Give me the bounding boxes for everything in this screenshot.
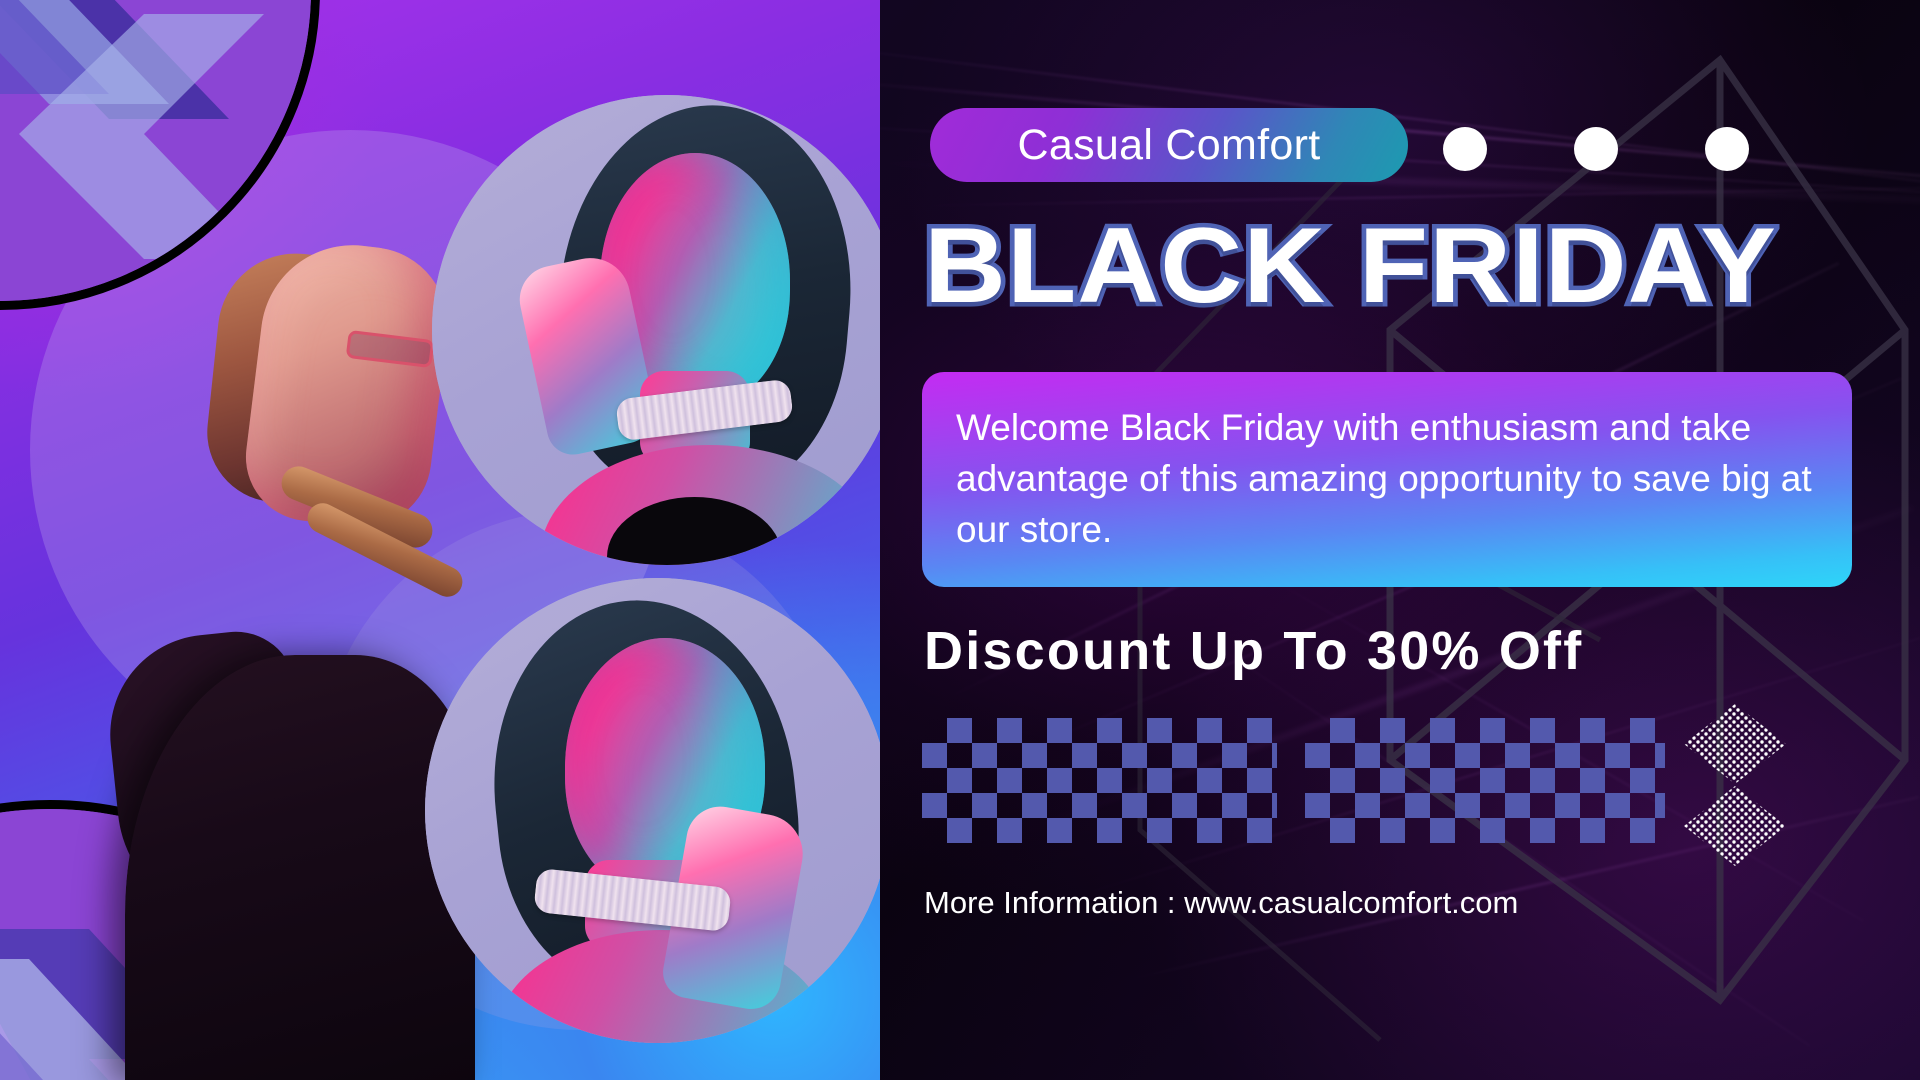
layered-chevron-arrows	[0, 0, 264, 259]
black-friday-banner: Casual Comfort BLACK FRIDAY Welcome Blac…	[0, 0, 1920, 1080]
model-portrait-upper	[432, 95, 880, 565]
dot-3-icon	[1705, 127, 1749, 171]
footer-information: More Information : www.casualcomfort.com	[924, 885, 1518, 921]
brand-badge-label: Casual Comfort	[1018, 121, 1321, 170]
model-portrait-lower	[425, 578, 880, 1043]
checker-left	[922, 718, 1277, 843]
dot-1-icon	[1443, 127, 1487, 171]
left-visual-panel	[0, 0, 880, 1080]
description-text: Welcome Black Friday with enthusiasm and…	[956, 402, 1818, 555]
decorative-dots-row	[1443, 127, 1749, 171]
discount-headline: Discount Up To 30% Off	[924, 620, 1583, 682]
description-panel: Welcome Black Friday with enthusiasm and…	[922, 372, 1852, 587]
dotted-diamond-pair-icon	[1680, 700, 1790, 870]
dot-2-icon	[1574, 127, 1618, 171]
page-title: BLACK FRIDAY	[924, 212, 1920, 319]
brand-badge[interactable]: Casual Comfort	[930, 108, 1408, 182]
content-column: Casual Comfort BLACK FRIDAY Welcome Blac…	[930, 0, 1920, 1080]
checker-right	[1305, 718, 1665, 843]
